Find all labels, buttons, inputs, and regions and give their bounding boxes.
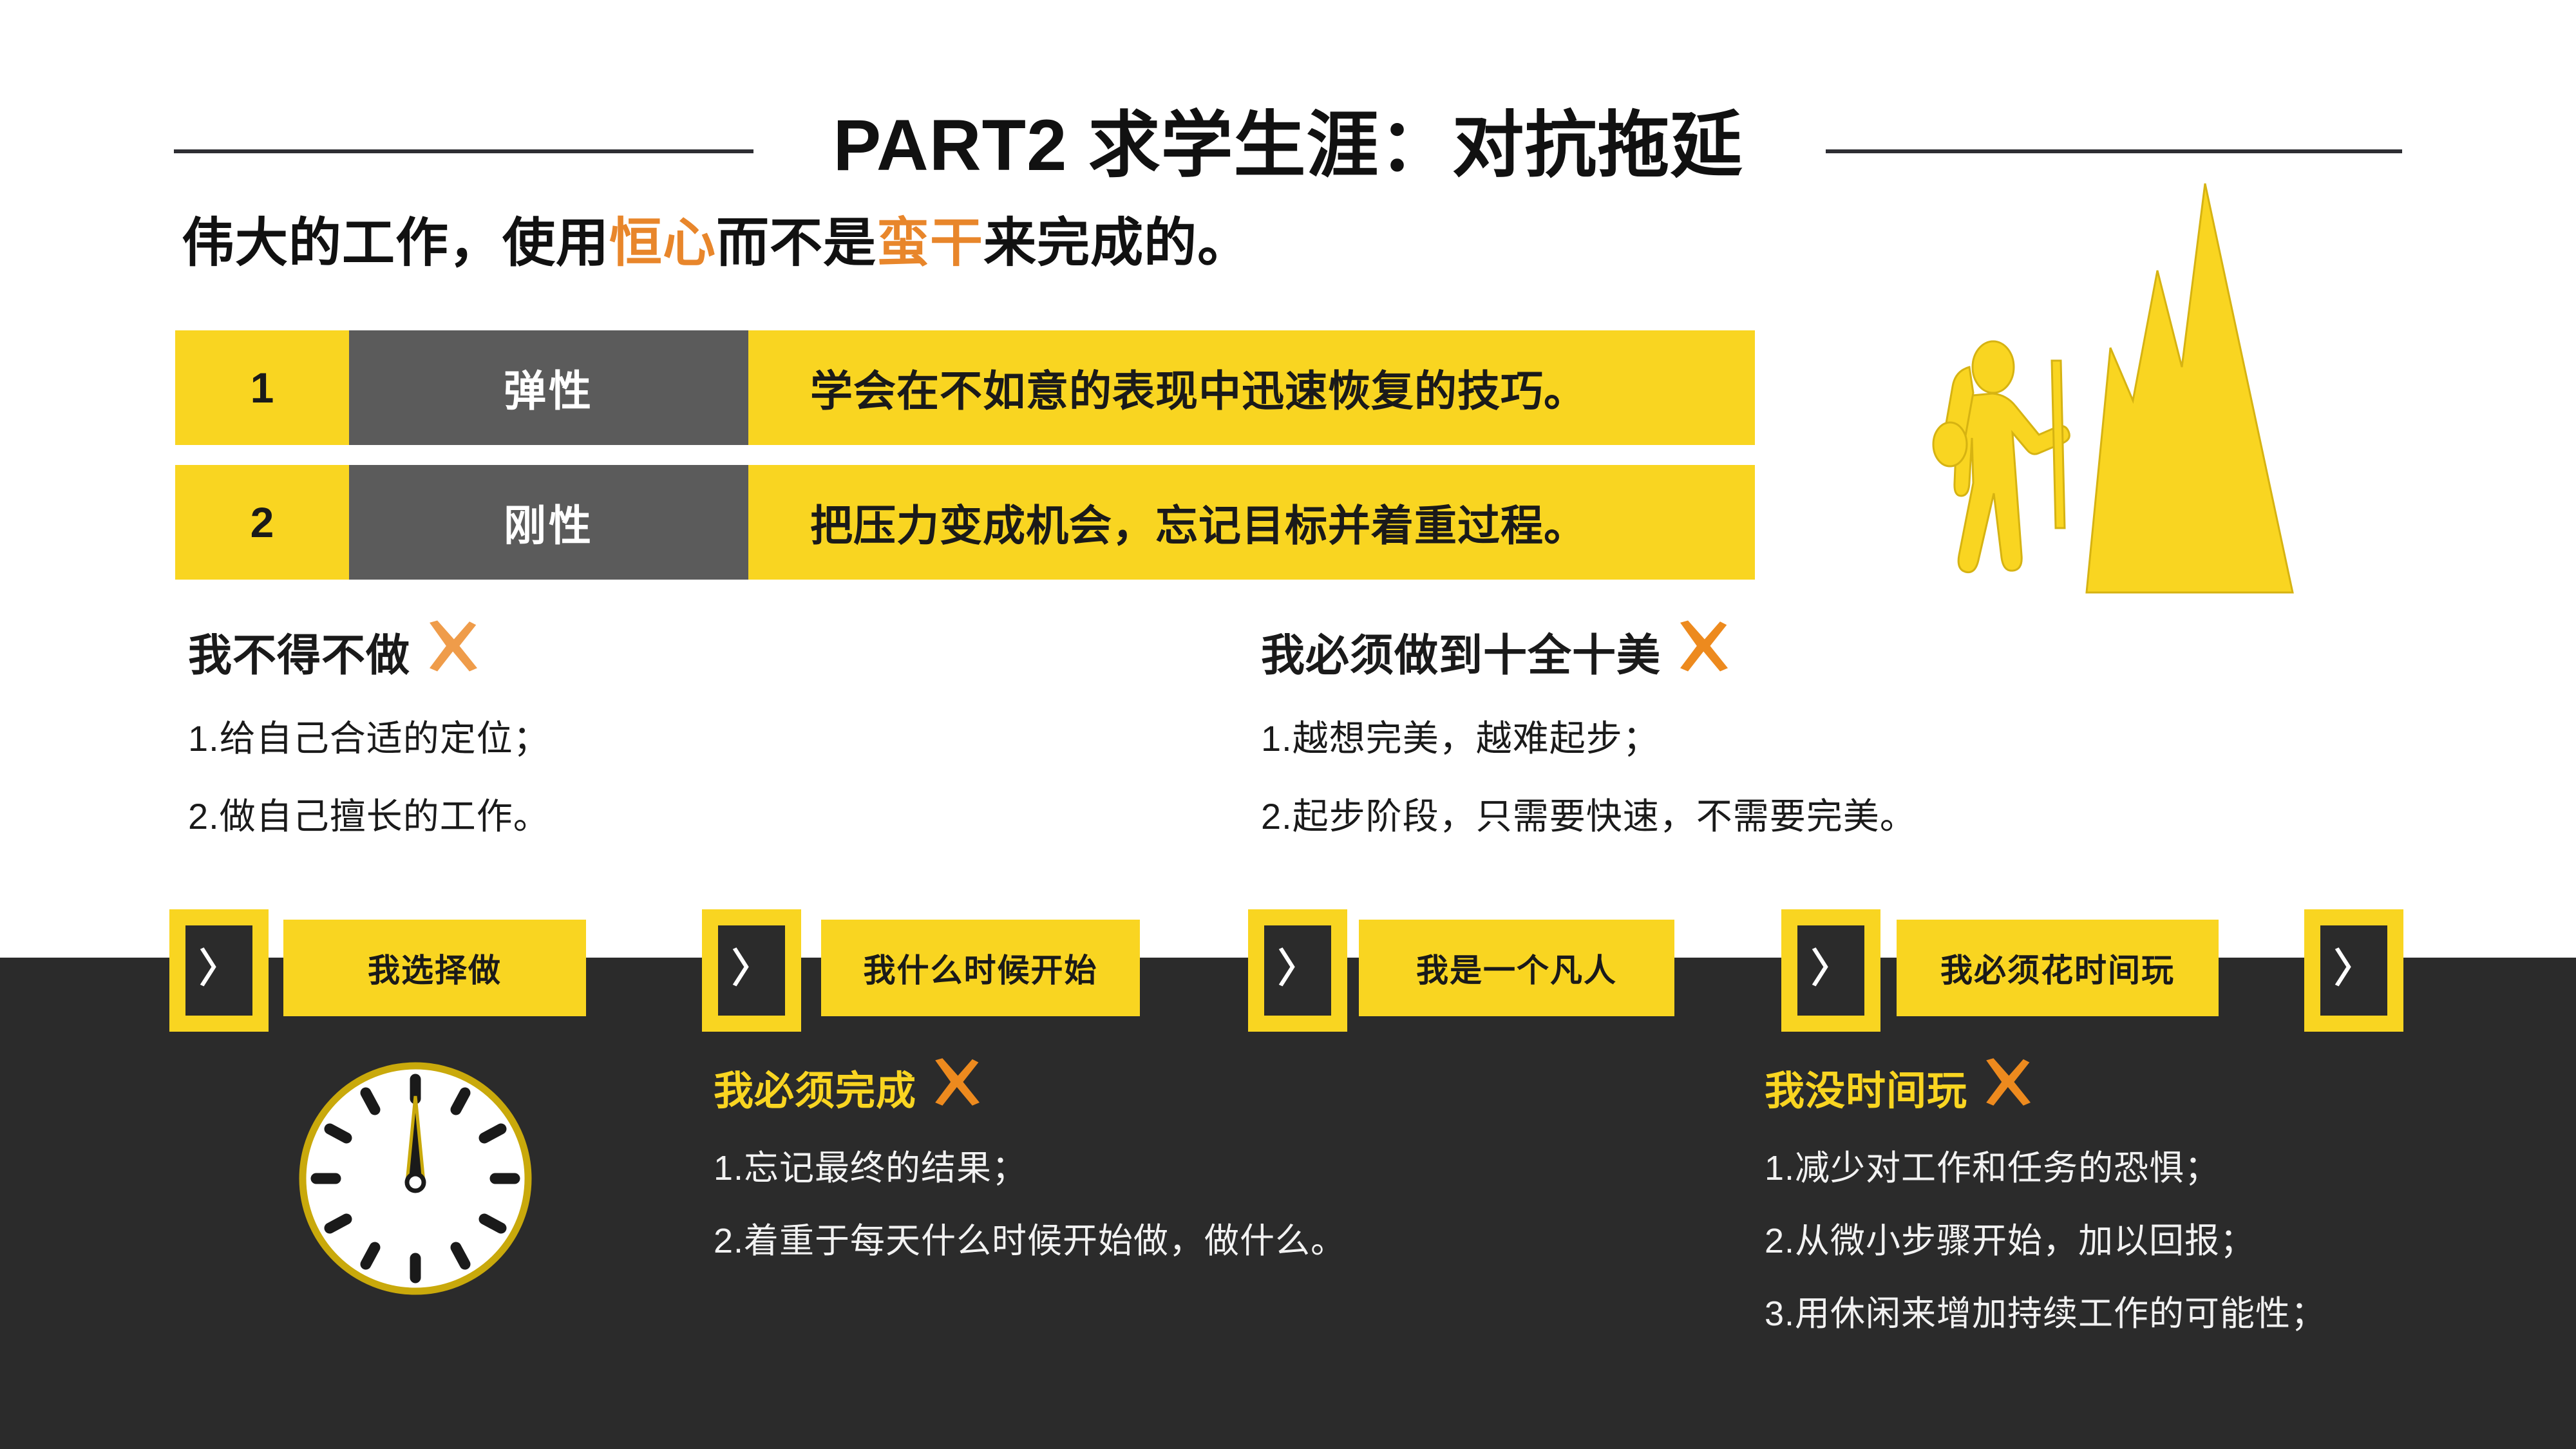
chip-arrow-3[interactable]: 〉 [1248,909,1347,1032]
myth-block-2-line: 2.起步阶段，只需要快速，不需要完美。 [1261,788,1917,840]
chip-arrow-1[interactable]: 〉 [169,909,269,1032]
subtitle-part-2: 而不是 [716,214,876,272]
solution-block-1: 我必须完成 1.忘记最终的结果； 2.着重于每天什么时候开始做，做什么。 [714,1056,1346,1263]
solution-block-2-line: 3.用休闲来增加持续工作的可能性； [1765,1285,2326,1336]
row-kind: 刚性 [349,465,748,580]
myth-block-2: 我必须做到十全十美 1.越想完美，越难起步； 2.起步阶段，只需要快速，不需要完… [1261,618,1917,840]
slide-root: PART2 求学生涯：对抗拖延 伟大的工作，使用恒心而不是蛮干来完成的。 1 弹… [0,0,2576,1449]
chevron-right-icon: 〉 [2320,925,2387,1016]
subtitle-highlight-1: 恒心 [609,214,716,272]
clock-icon [293,1056,538,1301]
table-row: 1 弹性 学会在不如意的表现中迅速恢复的技巧。 [175,330,1755,445]
x-mark-icon [1672,618,1728,684]
chevron-right-icon: 〉 [1264,925,1331,1016]
chip-label-4[interactable]: 我必须花时间玩 [1897,920,2219,1016]
row-number: 1 [175,330,349,445]
chevron-right-icon: 〉 [1797,925,1864,1016]
x-mark-icon [1979,1056,2031,1117]
row-description: 把压力变成机会，忘记目标并着重过程。 [748,465,1755,580]
myth-block-1-title: 我不得不做 [188,620,410,683]
solution-block-2-heading: 我没时间玩 [1765,1056,2326,1117]
myth-block-2-heading: 我必须做到十全十美 [1261,618,1917,684]
row-number: 2 [175,465,349,580]
chip-arrow-5[interactable]: 〉 [2304,909,2403,1032]
solution-block-2-line: 2.从微小步骤开始，加以回报； [1765,1212,2326,1263]
chip-arrow-2[interactable]: 〉 [702,909,801,1032]
subtitle-part-1: 伟大的工作，使用 [182,214,609,272]
myth-block-1-heading: 我不得不做 [188,618,550,684]
row-kind: 弹性 [349,330,748,445]
chip-label-1[interactable]: 我选择做 [283,920,586,1016]
table-row: 2 刚性 把压力变成机会，忘记目标并着重过程。 [175,465,1755,580]
x-mark-icon [422,618,477,684]
myth-block-1: 我不得不做 1.给自己合适的定位； 2.做自己擅长的工作。 [188,618,550,840]
subtitle-highlight-2: 蛮干 [876,214,983,272]
solution-block-1-line: 2.着重于每天什么时候开始做，做什么。 [714,1212,1346,1263]
myth-block-2-line: 1.越想完美，越难起步； [1261,710,1917,762]
solution-block-1-heading: 我必须完成 [714,1056,1346,1117]
subtitle: 伟大的工作，使用恒心而不是蛮干来完成的。 [182,200,1251,276]
subtitle-part-3: 来完成的。 [983,214,1251,272]
hiker-mountain-artwork [1893,174,2576,599]
myth-block-1-line: 2.做自己擅长的工作。 [188,788,550,840]
chip-label-3[interactable]: 我是一个凡人 [1359,920,1674,1016]
chevron-right-icon: 〉 [185,925,252,1016]
myth-block-1-line: 1.给自己合适的定位； [188,710,550,762]
hiker-icon [1933,341,2069,573]
solution-block-2: 我没时间玩 1.减少对工作和任务的恐惧； 2.从微小步骤开始，加以回报； 3.用… [1765,1056,2326,1336]
myth-block-2-title: 我必须做到十全十美 [1261,620,1661,683]
chip-arrow-4[interactable]: 〉 [1781,909,1880,1032]
solution-block-1-line: 1.忘记最终的结果； [714,1139,1346,1190]
x-mark-icon [928,1056,980,1117]
solution-block-2-title: 我没时间玩 [1765,1058,1967,1116]
solution-block-2-line: 1.减少对工作和任务的恐惧； [1765,1139,2326,1190]
chip-label-2[interactable]: 我什么时候开始 [821,920,1140,1016]
row-description: 学会在不如意的表现中迅速恢复的技巧。 [748,330,1755,445]
mountain-icon [2087,184,2293,592]
solution-block-1-title: 我必须完成 [714,1058,916,1116]
chevron-right-icon: 〉 [718,925,785,1016]
